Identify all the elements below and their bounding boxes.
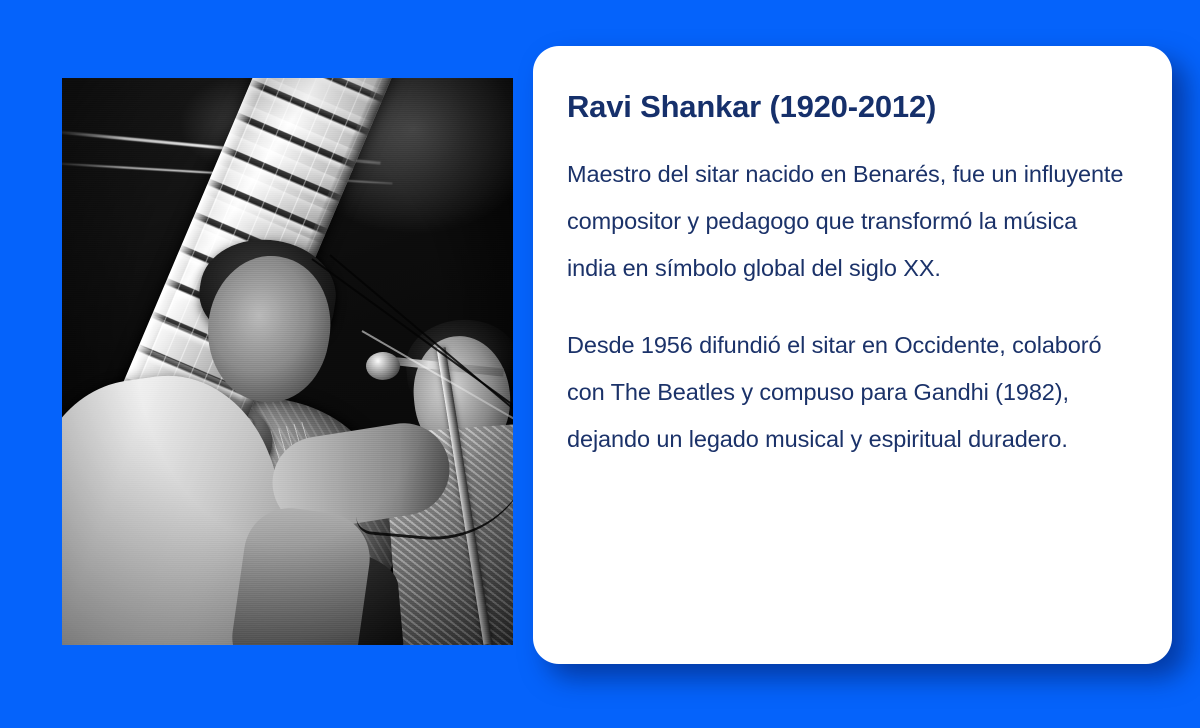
card-title: Ravi Shankar (1920-2012) (567, 88, 1126, 125)
microphone-cable (355, 371, 513, 548)
card-paragraph-2: Desde 1956 difundió el sitar en Occident… (567, 322, 1126, 463)
info-card: Ravi Shankar (1920-2012) Maestro del sit… (533, 46, 1172, 664)
page-root: Ravi Shankar (1920-2012) Maestro del sit… (0, 0, 1200, 728)
card-paragraph-1: Maestro del sitar nacido en Benarés, fue… (567, 151, 1126, 292)
photo-canvas (62, 78, 513, 645)
portrait-photo (62, 78, 513, 645)
